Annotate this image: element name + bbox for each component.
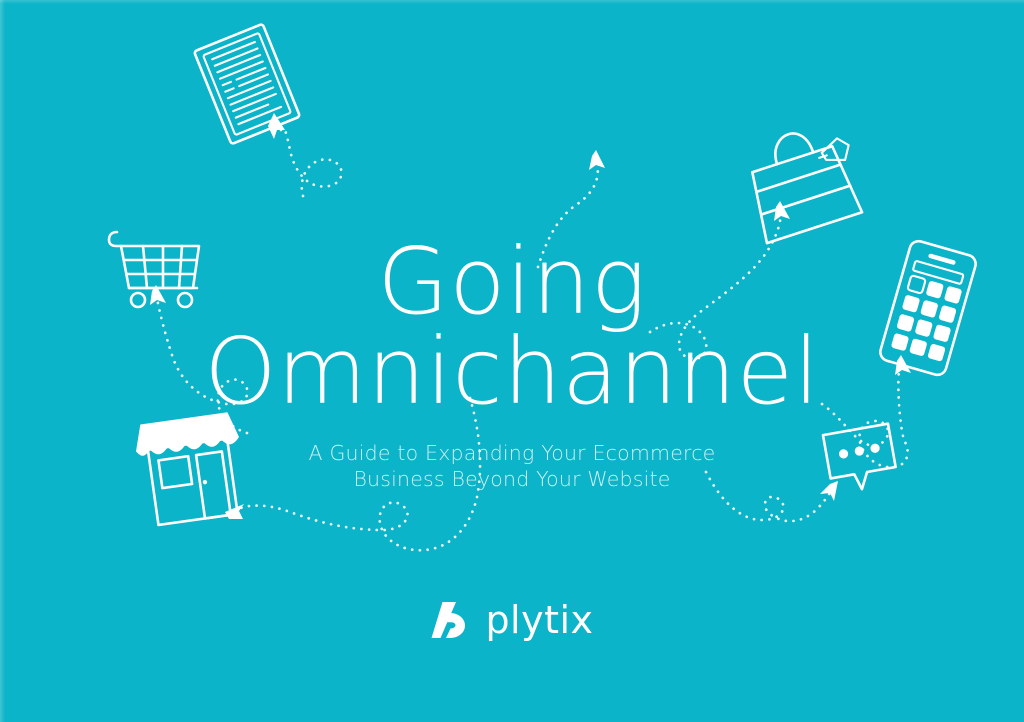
brand-logo: plytix (0, 600, 1024, 640)
cover-title: Going Omnichannel (0, 238, 1024, 417)
subtitle-line-1: A Guide to Expanding Your Ecommerce (0, 440, 1024, 466)
logo-wordmark: plytix (485, 601, 593, 639)
cover-page: .stroke-ln { fill: none; stroke: #ffffff… (0, 0, 1024, 722)
title-line-2: Omnichannel (0, 328, 1024, 416)
title-line-1: Going (0, 238, 1024, 326)
subtitle-line-2: Business Beyond Your Website (0, 466, 1024, 492)
cover-subtitle: A Guide to Expanding Your Ecommerce Busi… (0, 440, 1024, 492)
plytix-logo-mark (430, 600, 472, 640)
